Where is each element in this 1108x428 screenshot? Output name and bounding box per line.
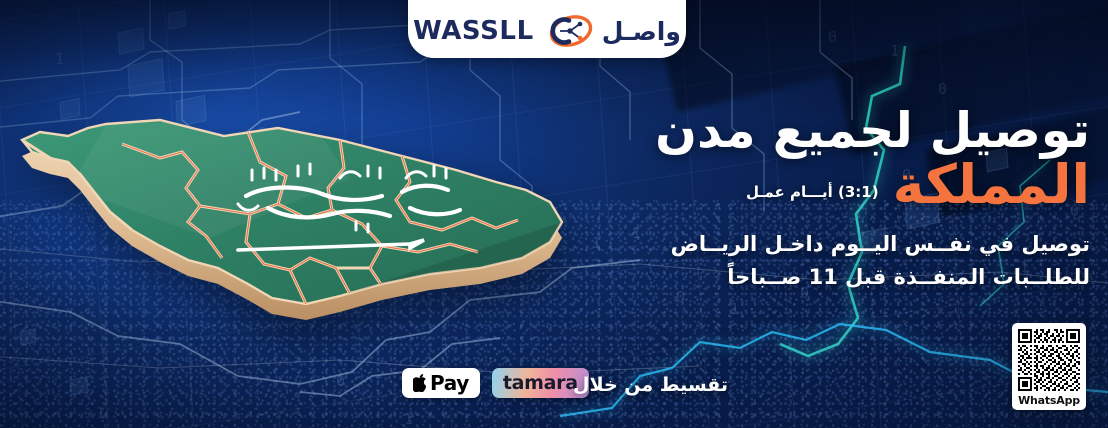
brand-name-en: WASSLL xyxy=(413,18,534,44)
headline-highlight-kingdom: المملكة xyxy=(893,158,1090,212)
subcopy-line-1: توصيل في نفــس اليــوم داخـل الريــاض xyxy=(590,228,1090,261)
headline-block: توصيل لجميع مدن المملكة (3:1) أيـــام عم… xyxy=(590,106,1090,293)
promo-banner: 1 0 1 0 0 1 1 0 1 0 1 1 0 0 0 1 1 0 0 1 … xyxy=(0,0,1108,428)
headline-line-1: توصيل لجميع مدن xyxy=(590,106,1090,156)
saudi-arabia-map xyxy=(10,118,590,328)
qr-code-icon xyxy=(1016,327,1082,393)
wassll-swoosh-logo-icon xyxy=(539,11,597,51)
installment-label: تقسيط من خلال xyxy=(573,374,728,396)
apple-pay-badge[interactable]: Pay xyxy=(402,368,480,398)
whatsapp-qr-label: WhatsApp xyxy=(1016,393,1082,408)
headline-line-2-row: المملكة (3:1) أيـــام عمـل xyxy=(590,158,1090,212)
workdays-note: (3:1) أيـــام عمـل xyxy=(746,183,879,212)
apple-logo-icon xyxy=(413,374,428,392)
saudi-arabia-map-icon xyxy=(10,118,590,328)
payment-methods: Pay tamara xyxy=(402,368,589,398)
whatsapp-qr-card[interactable]: WhatsApp xyxy=(1012,323,1086,410)
brand-logo[interactable]: WASSLL واصـل xyxy=(408,0,686,58)
tamara-label: tamara xyxy=(503,374,578,393)
subcopy-line-2: للطلــبات المنفــذة قبل 11 صــباحاً xyxy=(590,261,1090,294)
brand-name-ar: واصـل xyxy=(602,19,681,44)
subcopy-block: توصيل في نفــس اليــوم داخـل الريــاض لل… xyxy=(590,228,1090,293)
apple-pay-label: Pay xyxy=(430,373,469,393)
